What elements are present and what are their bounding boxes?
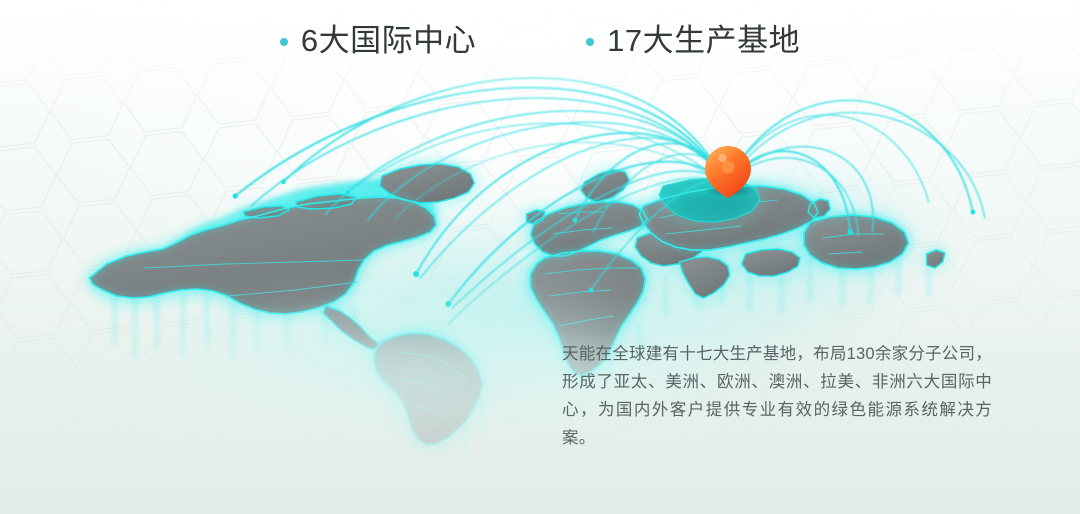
description-block: 天能在全球建有十七大生产基地，布局130余家分子公司，形成了亚太、美洲、欧洲、澳… [562,340,992,452]
connection-arcs [235,78,985,324]
bullet-dot-icon [280,38,288,46]
arc-endpoint-nodes [233,180,976,307]
bullet-dot-icon [586,38,594,46]
headline-item-international-centers: 6大国际中心 [280,24,476,59]
headline-label-2: 17大生产基地 [607,24,800,59]
cyan-glow-haze-right [620,120,1040,360]
headline-row: 6大国际中心 17大生产基地 [0,24,1080,59]
headline-item-production-bases: 17大生产基地 [586,24,800,59]
top-fade [0,0,1080,120]
description-text: 天能在全球建有十七大生产基地，布局130余家分子公司，形成了亚太、美洲、欧洲、澳… [562,340,992,452]
headline-label-1: 6大国际中心 [301,24,476,59]
map-pin-icon [705,146,751,198]
slide-canvas: 6大国际中心 17大生产基地 天能在全球建有十七大生产基地，布局130余家分子公… [0,0,1080,514]
